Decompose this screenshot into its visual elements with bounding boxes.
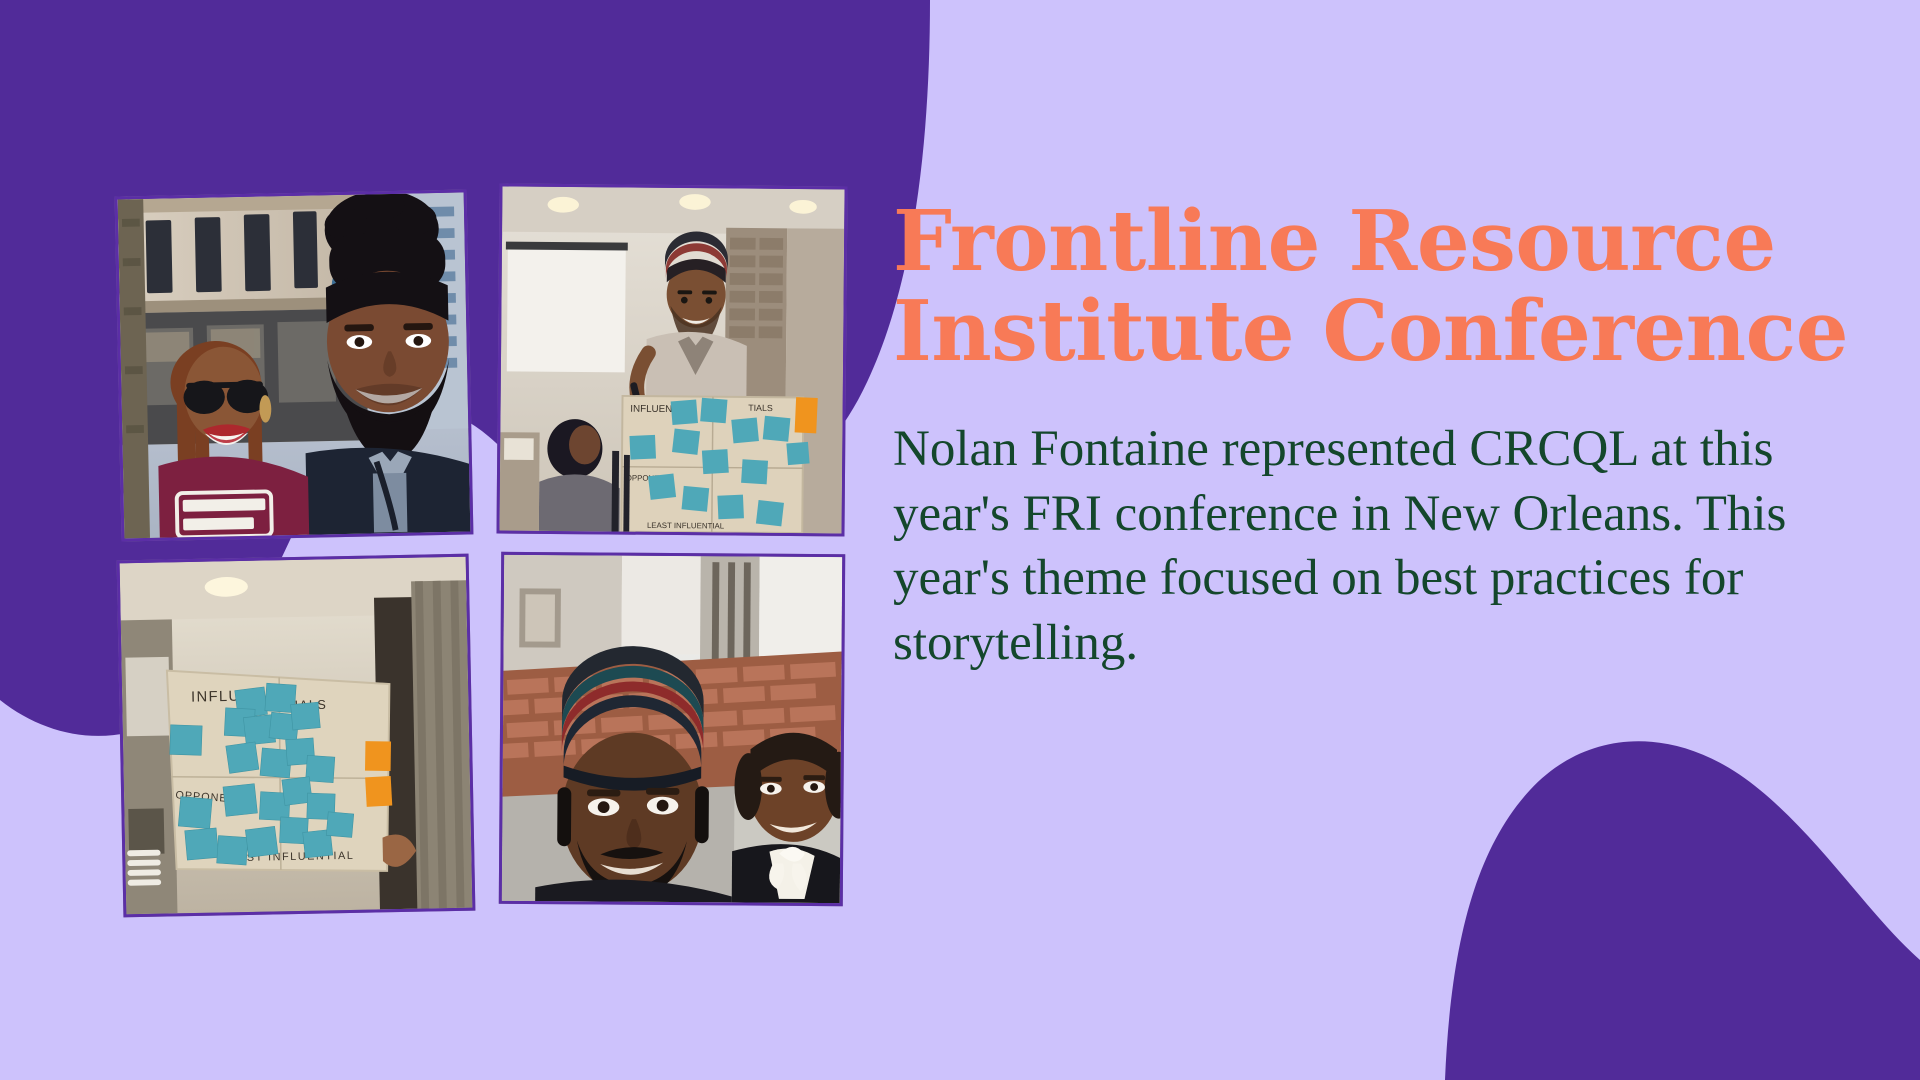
photo-3-image: INFLUEN TIALS MOST INFLUENTIAL OPPONENT …	[120, 557, 473, 915]
collage-photo-poster-presentation: INFLUEN TIALS OPPONENT LEAST INFLUENTIAL	[496, 183, 847, 536]
collage-photo-street-selfie	[115, 190, 474, 542]
purple-blob-bottom-right-icon	[1445, 741, 1920, 1080]
svg-text:LEAST INFLUENTIAL: LEAST INFLUENTIAL	[647, 521, 725, 531]
page-title: Frontline Resource Institute Conference	[893, 196, 1853, 377]
photo-2-image: INFLUEN TIALS OPPONENT LEAST INFLUENTIAL	[500, 187, 845, 534]
photo-1-image	[118, 193, 471, 539]
collage-photo-brick-selfie	[499, 552, 845, 906]
text-column: Frontline Resource Institute Conference …	[893, 196, 1853, 676]
body-paragraph: Nolan Fontaine represented CRCQL at this…	[893, 377, 1833, 676]
svg-text:INFLUEN: INFLUEN	[630, 404, 672, 415]
photo-collage: INFLUEN TIALS OPPONENT LEAST INFLUENTIAL	[118, 185, 848, 920]
slide-canvas: INFLUEN TIALS OPPONENT LEAST INFLUENTIAL	[0, 0, 1920, 1080]
collage-photo-poster-closeup: INFLUEN TIALS MOST INFLUENTIAL OPPONENT …	[117, 554, 476, 918]
photo-4-image	[502, 555, 842, 903]
svg-text:TIALS: TIALS	[748, 403, 773, 413]
